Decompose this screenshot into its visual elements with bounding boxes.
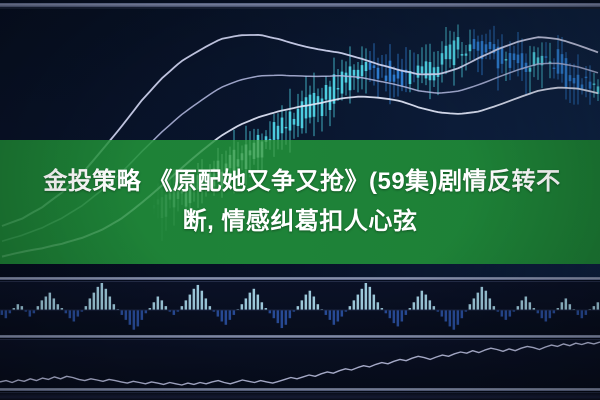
- panel-divider-1-shadow: [0, 281, 600, 282]
- banner-title-line-1: 金投策略 《原配她又争又抢》(59集)剧情反转不: [39, 162, 560, 202]
- banner-title-text: 金投策略 《原配她又争又抢》(59集)剧情反转不 断, 情感纠葛扣人心弦: [0, 140, 600, 264]
- panel-divider-1: [0, 277, 600, 280]
- screenshot-canvas: 金投策略 《原配她又争又抢》(59集)剧情反转不 断, 情感纠葛扣人心弦: [0, 0, 600, 400]
- bottom-edge-strip: [0, 393, 600, 400]
- title-banner: 金投策略 《原配她又争又抢》(59集)剧情反转不 断, 情感纠葛扣人心弦: [0, 140, 600, 264]
- panel-divider-2: [0, 335, 600, 338]
- panel-divider-3: [0, 388, 600, 391]
- top-divider-shadow: [0, 7, 600, 9]
- banner-title-line-2: 断, 情感纠葛扣人心弦: [183, 202, 418, 242]
- panel-divider-2-shadow: [0, 339, 600, 340]
